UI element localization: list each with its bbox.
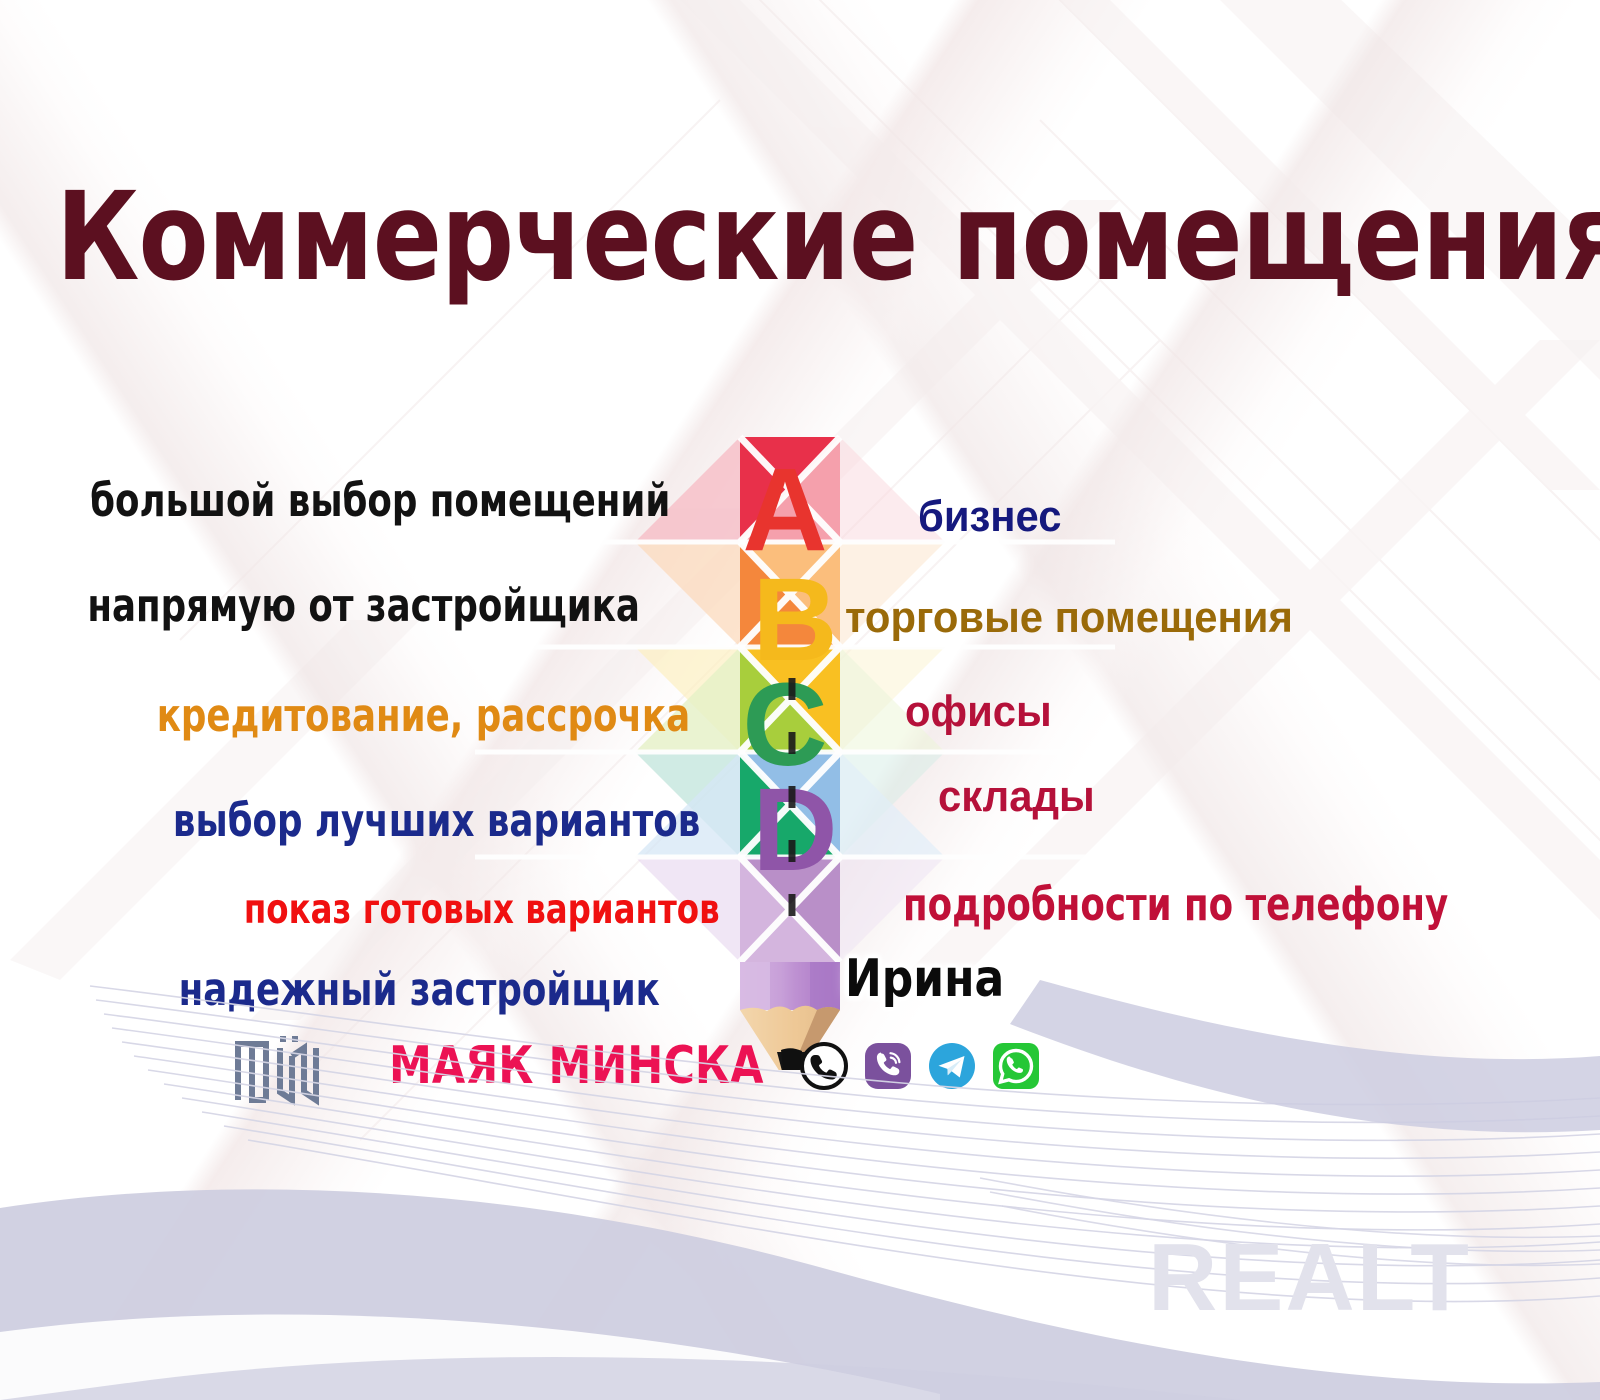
benefit-row-2: кредитование, рассрочка — [157, 693, 690, 738]
offer-row-3: склады — [938, 775, 1095, 819]
watermark-text: REALT — [1148, 1224, 1471, 1331]
offer-row-4: подробности по телефону — [903, 882, 1448, 927]
benefit-row-4: показ готовых вариантов — [244, 889, 720, 930]
realt-watermark: REALT — [1148, 1222, 1508, 1332]
benefit-row-0: большой выбор помещений — [90, 478, 670, 523]
benefit-row-3: выбор лучших вариантов — [173, 798, 700, 843]
offer-row-2: офисы — [905, 690, 1052, 734]
poster-canvas: Коммерческие помещения — [0, 0, 1600, 1400]
offer-row-1: торговые помещения — [845, 596, 1293, 640]
decorative-waves — [0, 980, 1600, 1400]
benefit-row-1: напрямую от застройщика — [87, 583, 640, 628]
pencil-letter-d: D — [752, 764, 837, 896]
offer-row-0: бизнес — [918, 495, 1061, 539]
page-title: Коммерческие помещения — [56, 176, 1544, 298]
